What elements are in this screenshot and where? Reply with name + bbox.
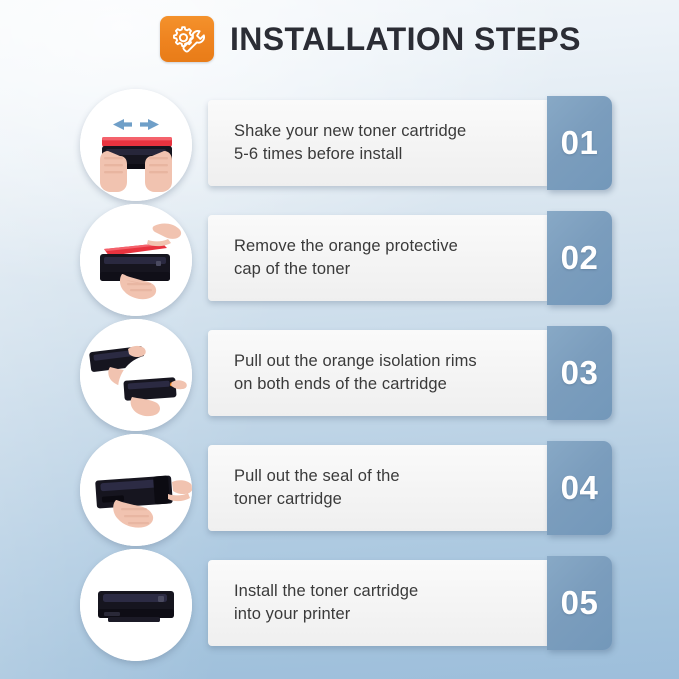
step-row: Remove the orange protective cap of the … (0, 201, 679, 316)
step-number: 01 (561, 124, 599, 162)
step-description-line2: toner cartridge (234, 490, 342, 508)
step-description-line2: into your printer (234, 605, 350, 623)
step-card: Pull out the orange isolation rims on bo… (208, 330, 548, 416)
step-description: Install the toner cartridge into your pr… (234, 580, 418, 627)
step-description: Pull out the seal of the toner cartridge (234, 465, 400, 512)
step-card: Remove the orange protective cap of the … (208, 215, 548, 301)
step-card: Pull out the seal of the toner cartridge (208, 445, 548, 531)
step-description: Pull out the orange isolation rims on bo… (234, 350, 477, 397)
step-description-line1: Remove the orange protective (234, 237, 458, 255)
step-row: Pull out the seal of the toner cartridge… (0, 431, 679, 546)
step-image-shake-cartridge (80, 89, 192, 201)
step-number-badge: 04 (547, 441, 612, 535)
step-number-badge: 03 (547, 326, 612, 420)
step-description-line2: 5-6 times before install (234, 145, 402, 163)
step-row: Shake your new toner cartridge 5-6 times… (0, 86, 679, 201)
installation-steps-list: Shake your new toner cartridge 5-6 times… (0, 86, 679, 661)
step-description-line1: Install the toner cartridge (234, 582, 418, 600)
step-number-badge: 02 (547, 211, 612, 305)
step-card: Shake your new toner cartridge 5-6 times… (208, 100, 548, 186)
step-image-pull-isolation-rims (80, 319, 192, 431)
step-row: Install the toner cartridge into your pr… (0, 546, 679, 661)
step-description: Shake your new toner cartridge 5-6 times… (234, 120, 466, 167)
step-description-line1: Pull out the seal of the (234, 467, 400, 485)
step-row: Pull out the orange isolation rims on bo… (0, 316, 679, 431)
step-number: 04 (561, 469, 599, 507)
step-description-line2: cap of the toner (234, 260, 350, 278)
step-number-badge: 01 (547, 96, 612, 190)
page-header: INSTALLATION STEPS (160, 16, 581, 62)
step-image-pull-seal (80, 434, 192, 546)
step-number: 03 (561, 354, 599, 392)
gear-wrench-icon (160, 16, 214, 62)
step-number: 05 (561, 584, 599, 622)
step-description-line1: Shake your new toner cartridge (234, 122, 466, 140)
step-description-line1: Pull out the orange isolation rims (234, 352, 477, 370)
step-number: 02 (561, 239, 599, 277)
step-image-remove-cap (80, 204, 192, 316)
step-number-badge: 05 (547, 556, 612, 650)
step-image-toner-cartridge (80, 549, 192, 661)
step-card: Install the toner cartridge into your pr… (208, 560, 548, 646)
step-description: Remove the orange protective cap of the … (234, 235, 458, 282)
step-description-line2: on both ends of the cartridge (234, 375, 447, 393)
page-title: INSTALLATION STEPS (230, 21, 581, 58)
